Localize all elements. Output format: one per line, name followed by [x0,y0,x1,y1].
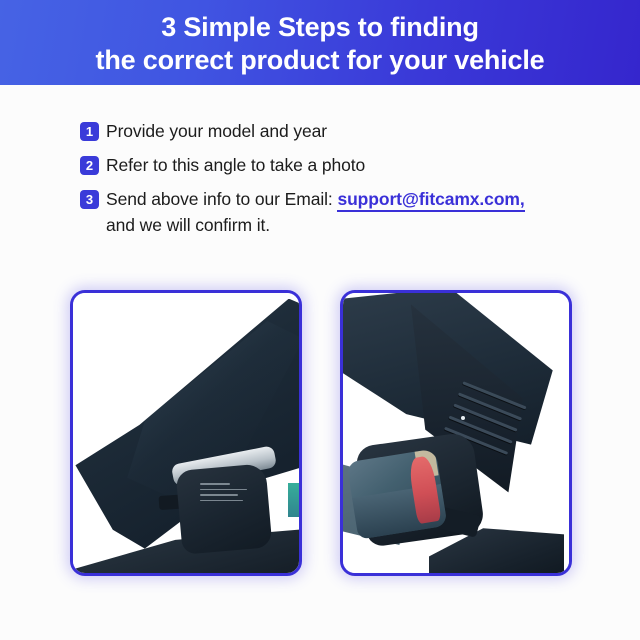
mirror-glass [346,449,448,541]
teal-accent [288,483,299,517]
label-line [200,489,247,491]
support-email-link[interactable]: support@fitcamx.com, [337,189,524,212]
label-line [200,500,243,502]
step-item-1: 1 Provide your model and year [80,119,600,143]
page-header: 3 Simple Steps to finding the correct pr… [0,0,640,85]
reference-photo-panels [70,290,572,576]
header-title-line-1: 3 Simple Steps to finding [161,11,479,44]
step-label-2: Refer to this angle to take a photo [106,153,365,177]
label-line [200,494,239,496]
vent-slat [458,393,522,421]
windshield-trim-mirror-photo [73,293,299,573]
mirror-label-text [200,483,259,528]
rearview-mirror-vent-photo [343,293,569,573]
label-line [200,483,231,485]
step-item-3: 3 Send above info to our Email: support@… [80,187,600,237]
step-3-text-before: Send above info to our Email: [106,189,337,209]
step-badge-2: 2 [80,156,99,175]
step-label-3: Send above info to our Email: support@fi… [106,187,525,237]
photo-panel-right[interactable] [340,290,572,576]
sensor-dot [461,416,465,420]
step-badge-3: 3 [80,190,99,209]
header-title-line-2: the correct product for your vehicle [96,44,545,77]
photo-panel-left[interactable] [70,290,302,576]
steps-list: 1 Provide your model and year 2 Refer to… [80,119,600,237]
step-badge-1: 1 [80,122,99,141]
step-3-text-after: and we will confirm it. [106,213,525,237]
step-label-1: Provide your model and year [106,119,327,143]
step-item-2: 2 Refer to this angle to take a photo [80,153,600,177]
